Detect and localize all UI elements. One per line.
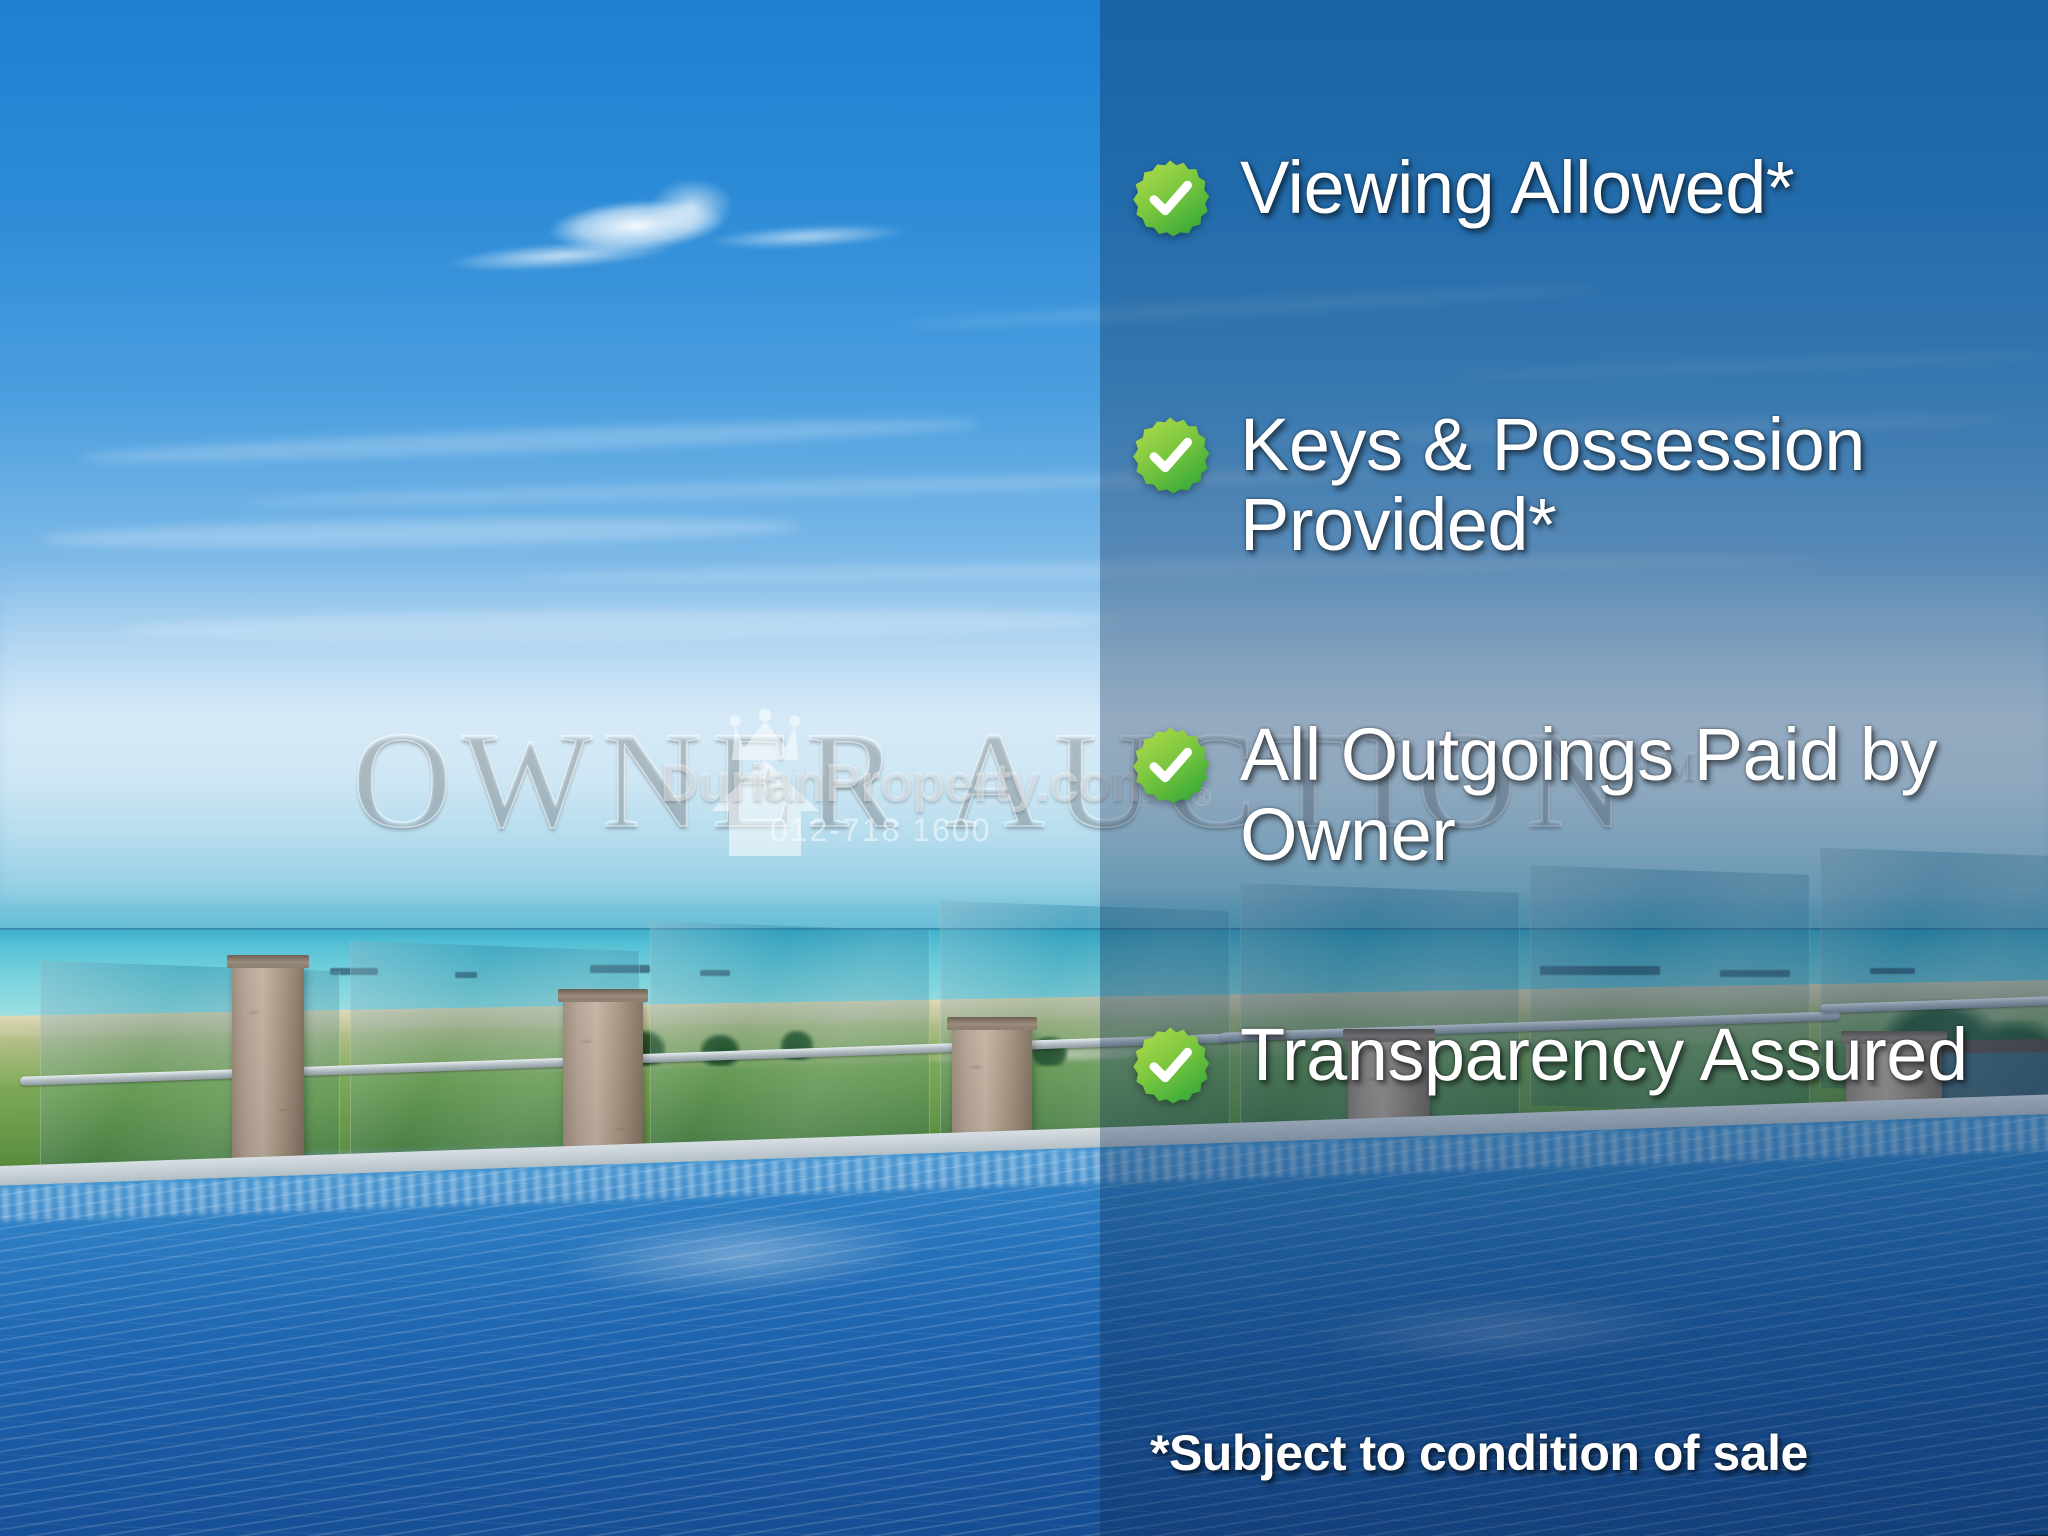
feature-item-keys-possession: Keys & Possession Provided* bbox=[1130, 405, 2040, 565]
green-check-badge-icon bbox=[1130, 415, 1210, 495]
footnote-text: *Subject to condition of sale bbox=[1150, 1424, 2030, 1482]
feature-label: All Outgoings Paid by Owner bbox=[1240, 715, 2040, 875]
feature-label: Viewing Allowed* bbox=[1240, 148, 1794, 228]
green-check-badge-icon bbox=[1130, 158, 1210, 238]
feature-label: Transparency Assured bbox=[1240, 1015, 1968, 1095]
feature-item-outgoings-paid: All Outgoings Paid by Owner bbox=[1130, 715, 2040, 875]
watermark-phone-number: 012-718 1600 bbox=[770, 812, 992, 849]
feature-item-transparency-assured: Transparency Assured bbox=[1130, 1015, 1968, 1105]
feature-label: Keys & Possession Provided* bbox=[1240, 405, 2040, 565]
green-check-badge-icon bbox=[1130, 725, 1210, 805]
feature-item-viewing-allowed: Viewing Allowed* bbox=[1130, 148, 1794, 238]
feature-list: Viewing Allowed* Keys & Possession Provi… bbox=[1130, 0, 2048, 1300]
banner-canvas: OWNER AUCTIONTM ® DurianProperty.com 012… bbox=[0, 0, 2048, 1536]
green-check-badge-icon bbox=[1130, 1025, 1210, 1105]
